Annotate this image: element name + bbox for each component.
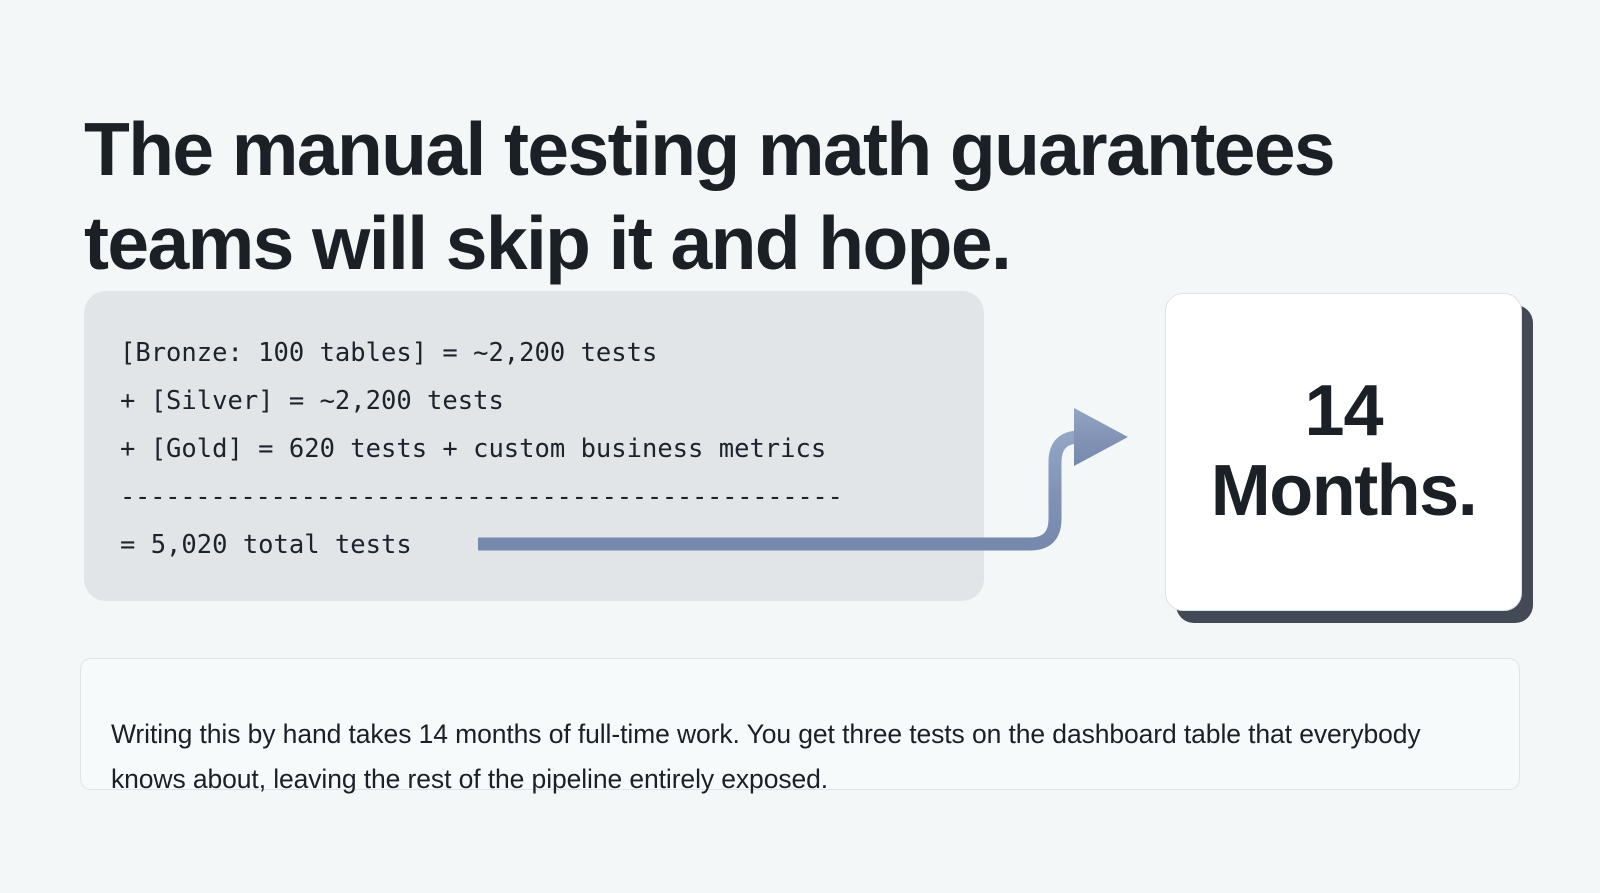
code-line-silver: + [Silver] = ~2,200 tests	[120, 377, 984, 425]
slide-root: The manual testing math guarantees teams…	[0, 0, 1600, 893]
result-card: 14 Months.	[1165, 293, 1522, 611]
code-line-total: = 5,020 total tests	[120, 521, 984, 569]
page-title: The manual testing math guarantees teams…	[84, 102, 1504, 290]
result-number: 14	[1304, 372, 1382, 450]
caption-box: Writing this by hand takes 14 months of …	[80, 658, 1520, 790]
caption-text: Writing this by hand takes 14 months of …	[111, 712, 1489, 802]
code-separator-rule: ----------------------------------------…	[120, 473, 984, 521]
code-line-bronze: [Bronze: 100 tables] = ~2,200 tests	[120, 329, 984, 377]
result-unit: Months.	[1211, 450, 1476, 532]
result-card-container: 14 Months.	[1165, 293, 1522, 611]
code-line-gold: + [Gold] = 620 tests + custom business m…	[120, 425, 984, 473]
code-block: [Bronze: 100 tables] = ~2,200 tests + [S…	[84, 291, 984, 601]
